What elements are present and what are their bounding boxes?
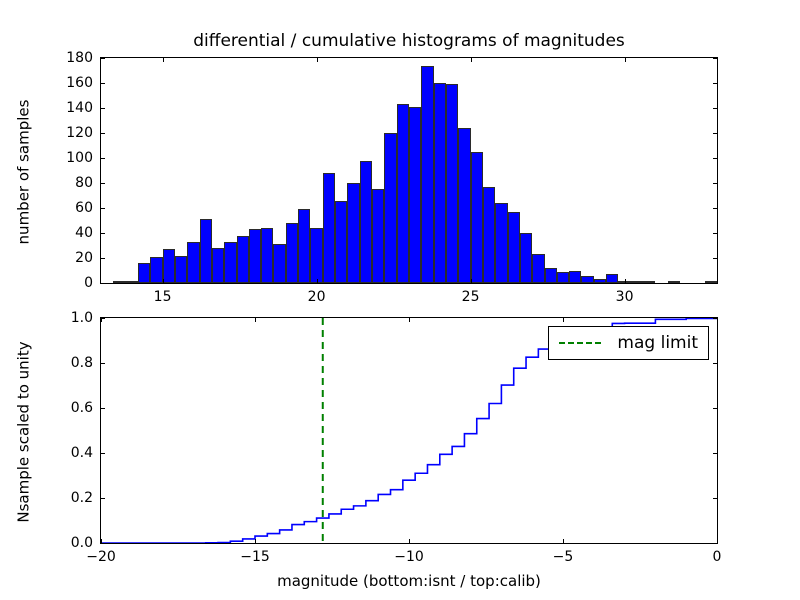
y-tick [101,543,105,544]
x-tick [163,279,164,283]
histogram-bar [545,268,557,283]
x-tick [255,318,256,322]
y-tick-label: 0.6 [36,400,93,416]
bottom-x-axis-label: magnitude (bottom:isnt / top:calib) [101,572,717,590]
y-tick [713,133,717,134]
y-tick [101,498,105,499]
histogram-bar [434,83,446,283]
y-tick [713,108,717,109]
histogram-bar [372,189,384,283]
y-tick [101,58,105,59]
y-tick [101,233,105,234]
x-tick-label: 0 [713,549,722,565]
histogram-bar [569,271,581,284]
y-tick [101,158,105,159]
x-tick-label: −20 [86,549,116,565]
y-tick [713,543,717,544]
y-tick [713,258,717,259]
x-tick [563,539,564,543]
x-tick-label: −10 [394,549,424,565]
y-tick [101,108,105,109]
y-tick-label: 140 [36,100,93,116]
x-tick-label: 25 [462,289,480,305]
y-tick-label: 120 [36,125,93,141]
histogram-bar [347,183,359,283]
y-tick-label: 0.8 [36,355,93,371]
y-tick-label: 60 [36,200,93,216]
x-tick [625,58,626,62]
histogram-bar [150,257,162,283]
histogram-bar [532,254,544,283]
y-tick [713,183,717,184]
x-tick-label: −15 [240,549,270,565]
chart-title: differential / cumulative histograms of … [101,31,717,51]
histogram-bar [458,128,470,283]
histogram-bar [212,248,224,283]
y-tick [713,158,717,159]
x-tick [317,58,318,62]
y-tick [101,133,105,134]
y-tick [101,183,105,184]
histogram-bar [495,203,507,283]
histogram-bar [200,219,212,283]
x-tick [409,318,410,322]
histogram-bar [668,281,680,283]
y-tick [101,453,105,454]
legend[interactable]: mag limit [548,326,709,360]
histogram-bar [360,161,372,284]
x-tick [625,279,626,283]
x-tick [471,279,472,283]
histogram-plot-area [101,58,717,283]
mag-limit-legend-swatch [559,342,601,344]
histogram-bar [643,281,655,284]
histogram-bar [409,107,421,283]
histogram-bar [557,272,569,283]
y-tick [713,83,717,84]
histogram-bar [163,249,175,283]
y-tick [713,498,717,499]
histogram-bar [237,236,249,284]
histogram-bar [261,228,273,283]
histogram-bar [273,244,285,283]
y-tick-label: 0.4 [36,445,93,461]
histogram-bar [594,279,606,283]
histogram-bar [113,281,125,283]
histogram-bar [446,84,458,283]
y-tick [713,233,717,234]
y-tick [101,363,105,364]
y-tick [101,408,105,409]
y-tick-label: 160 [36,75,93,91]
bottom-y-axis-label: Nsample scaled to unity [14,341,32,522]
x-tick [317,279,318,283]
histogram-bar [286,223,298,283]
histogram-bar [483,187,495,283]
histogram-bar [126,281,138,284]
histogram-bar [520,233,532,283]
histogram-bar [606,274,618,283]
cumulative-histogram-axes: magnitude (bottom:isnt / top:calib) Nsam… [100,317,718,544]
histogram-bar [298,209,310,283]
y-tick-label: 40 [36,225,93,241]
y-tick [713,318,717,319]
histogram-bar [471,152,483,283]
x-tick-label: 30 [616,289,634,305]
y-tick-label: 100 [36,150,93,166]
mag-limit-legend-label: mag limit [617,333,698,353]
histogram-bar [175,256,187,284]
differential-histogram-axes: differential / cumulative histograms of … [100,57,718,284]
y-tick-label: 80 [36,175,93,191]
histogram-bar [384,133,396,283]
histogram-bar [138,263,150,283]
x-tick [717,539,718,543]
y-tick [101,318,105,319]
histogram-bar [631,281,643,283]
top-y-axis-label: number of samples [14,99,32,244]
histogram-bar [335,201,347,284]
y-tick [101,208,105,209]
x-tick [471,58,472,62]
histogram-bar [323,173,335,283]
y-tick [101,283,105,284]
y-tick-label: 20 [36,250,93,266]
x-tick [255,539,256,543]
histogram-bar [508,212,520,283]
y-tick [101,83,105,84]
x-tick [563,318,564,322]
histogram-bar [249,229,261,283]
histogram-bar [224,242,236,283]
x-tick [717,318,718,322]
y-tick [713,58,717,59]
y-tick [713,208,717,209]
histogram-bar [421,66,433,284]
histogram-bar [581,276,593,284]
histogram-bar [187,242,199,283]
y-tick-label: 180 [36,50,93,66]
x-tick-label: 20 [308,289,326,305]
y-tick [101,258,105,259]
y-tick-label: 0.2 [36,490,93,506]
y-tick-label: 1.0 [36,310,93,326]
x-tick-label: 15 [154,289,172,305]
y-tick [713,408,717,409]
x-tick [409,539,410,543]
x-tick-label: −5 [553,549,574,565]
histogram-bar [397,104,409,283]
y-tick [713,283,717,284]
y-tick-label: 0.0 [36,535,93,551]
y-tick-label: 0 [36,275,93,291]
figure-canvas: differential / cumulative histograms of … [0,0,800,600]
x-tick [163,58,164,62]
y-tick [713,363,717,364]
histogram-bar [310,228,322,283]
y-tick [713,453,717,454]
